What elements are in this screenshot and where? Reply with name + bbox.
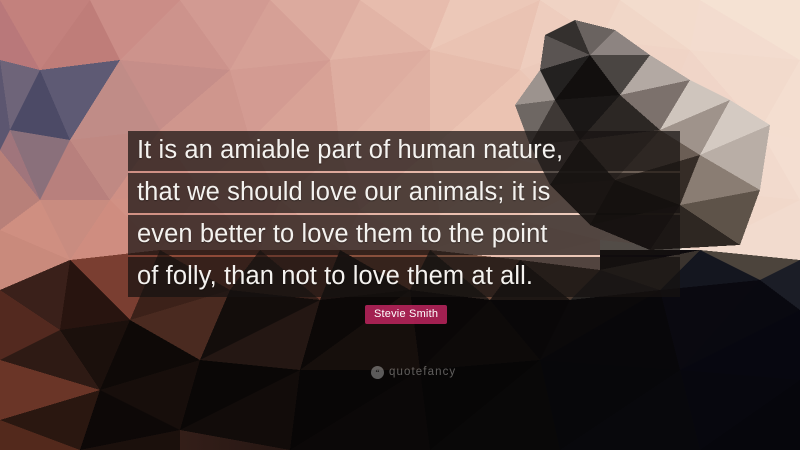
author-badge: Stevie Smith <box>365 305 447 324</box>
quote-mark-icon: “ <box>371 366 384 379</box>
quote-line: that we should love our animals; it is <box>128 173 680 213</box>
watermark-brand-text: quotefancy <box>389 367 456 379</box>
quote-line-text: that we should love our animals; it is <box>137 180 550 206</box>
quote-line: of folly, than not to love them at all. <box>128 257 680 297</box>
author-name: Stevie Smith <box>374 309 438 320</box>
quote-line: It is an amiable part of human nature, <box>128 131 680 171</box>
quote-line: even better to love them to the point <box>128 215 680 255</box>
quote-wallpaper: It is an amiable part of human nature, t… <box>0 0 800 450</box>
quote-line-text: even better to love them to the point <box>137 222 548 248</box>
quote-line-text: It is an amiable part of human nature, <box>137 138 563 164</box>
quote-line-text: of folly, than not to love them at all. <box>137 264 533 290</box>
quotefancy-watermark: “ quotefancy <box>371 366 456 379</box>
quote-text-block: It is an amiable part of human nature, t… <box>128 131 680 297</box>
